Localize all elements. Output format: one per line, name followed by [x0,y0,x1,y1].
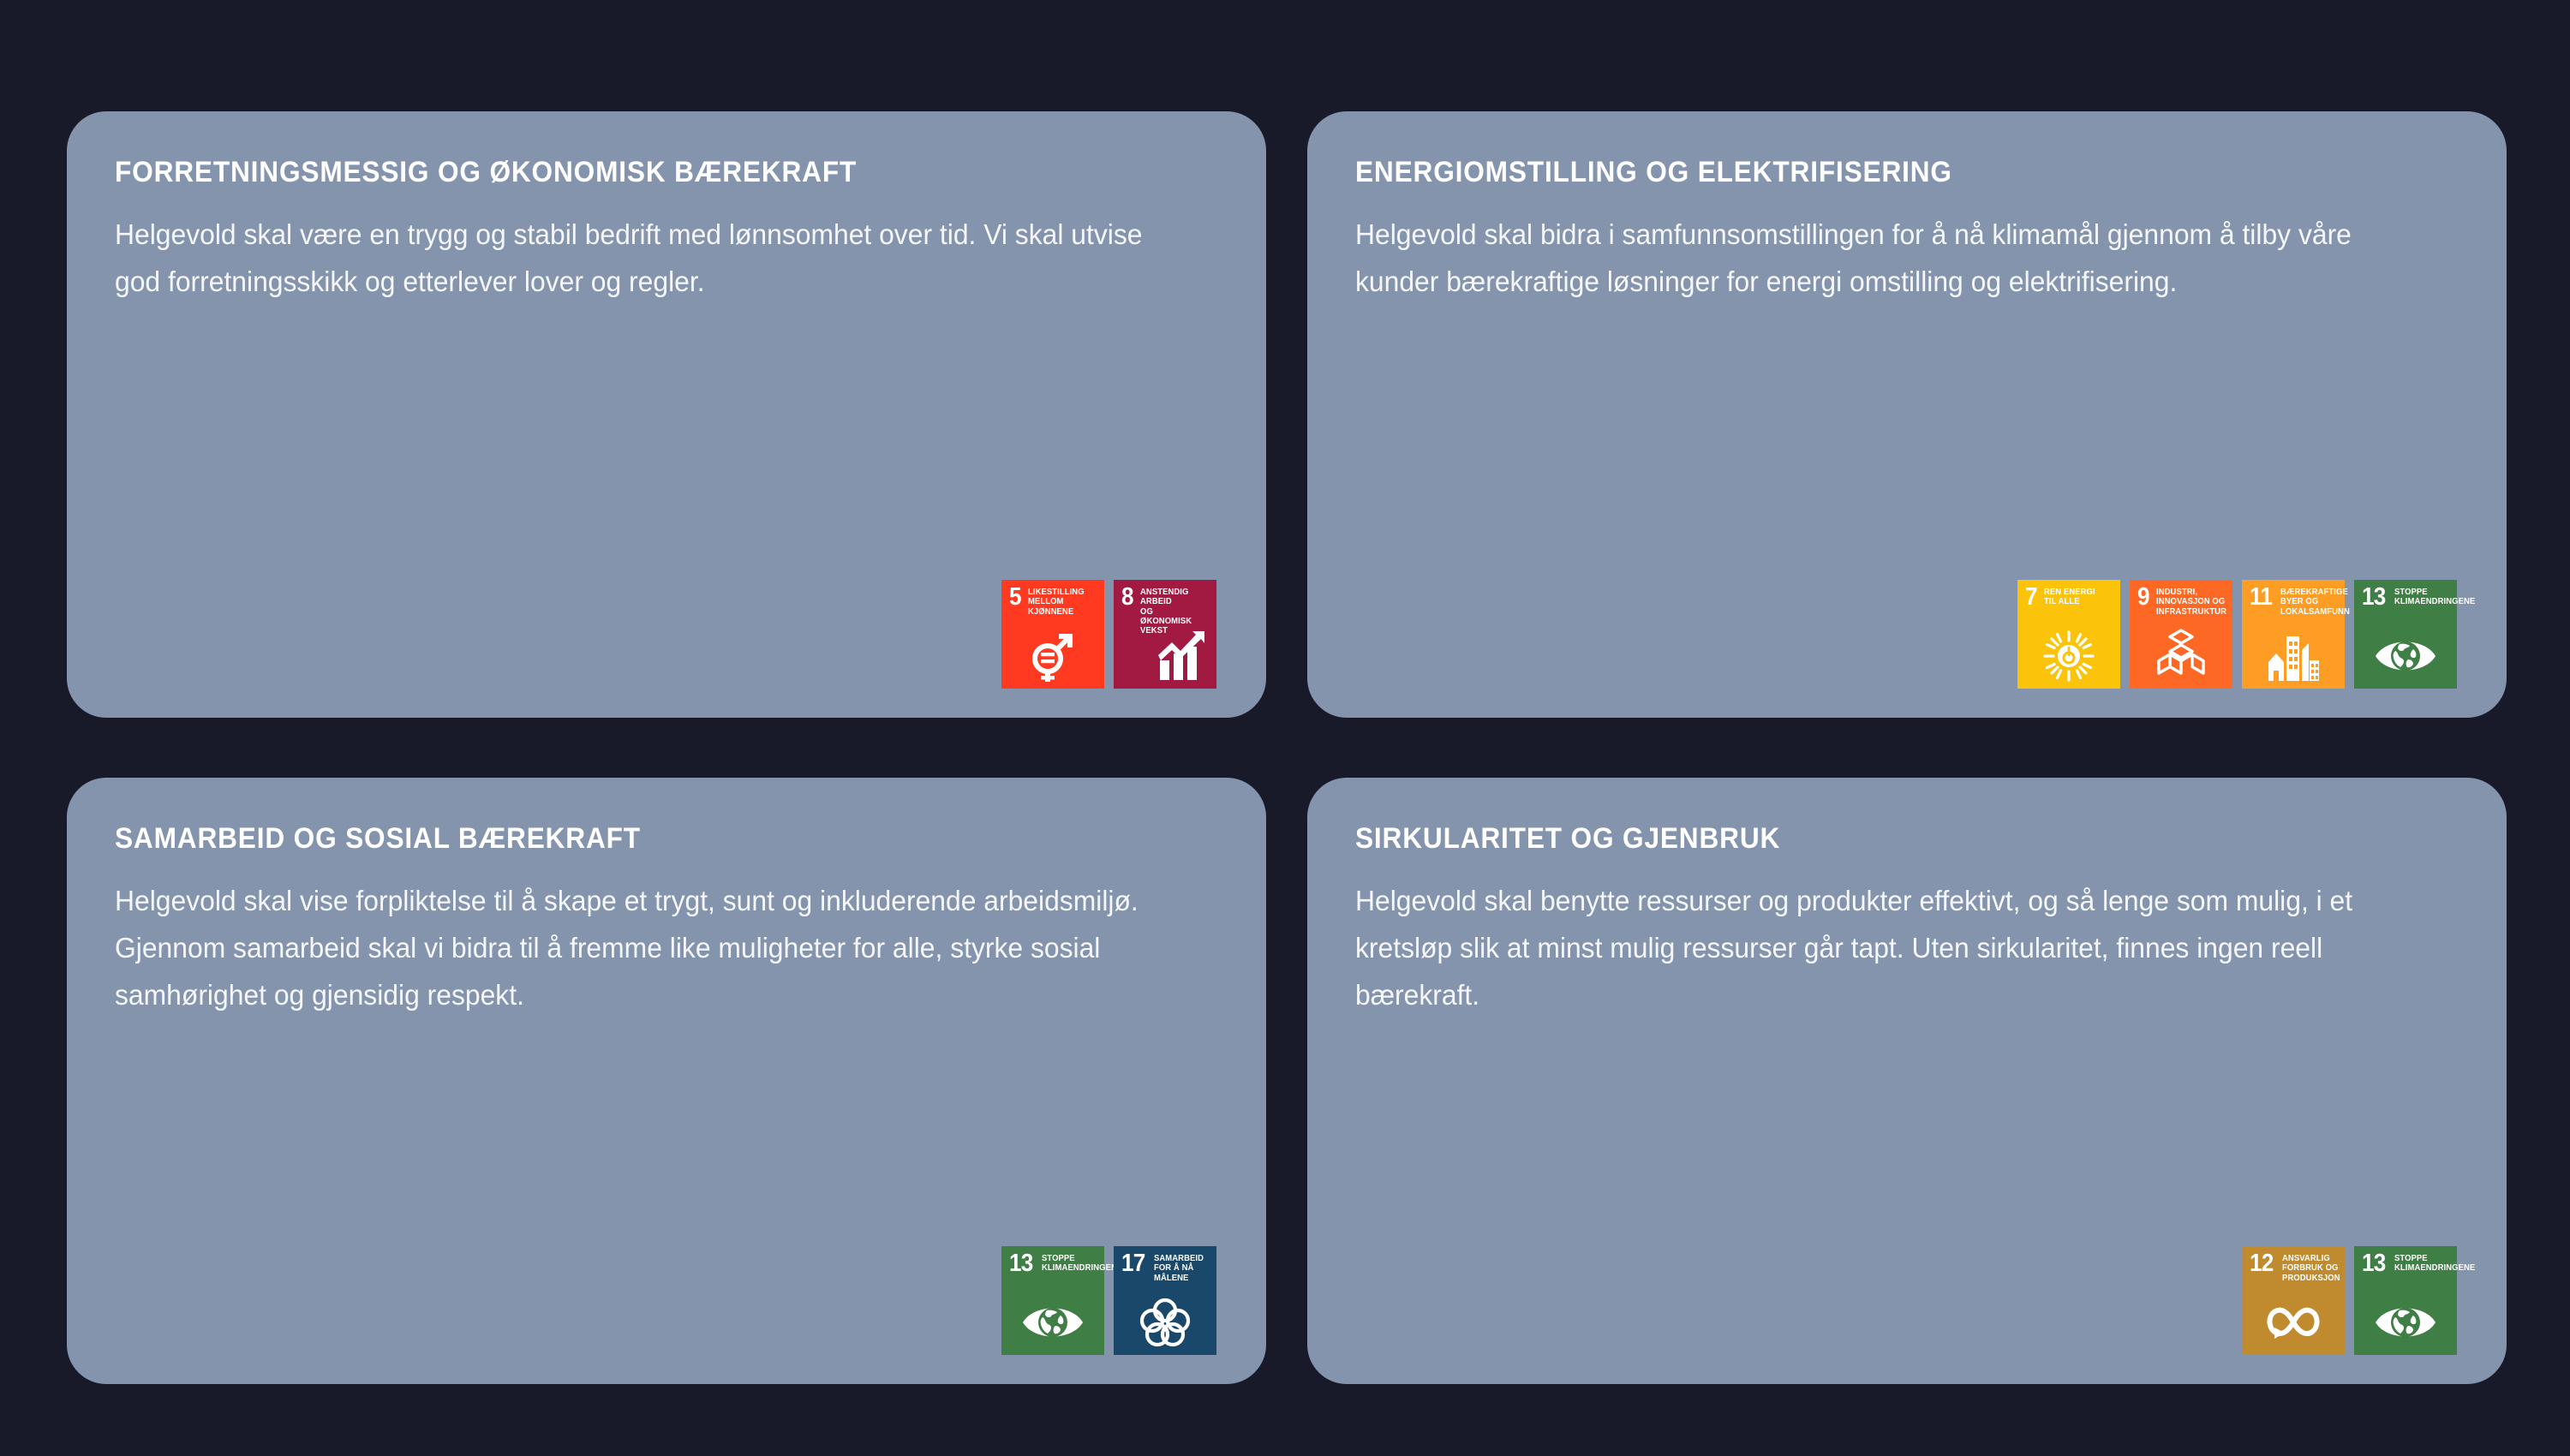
card-body-text: Helgevold skal være en trygg og stabil b… [115,212,1180,306]
sdg-goal-header: 12ANSVARLIG FORBRUK OG PRODUKSJON [2250,1254,2339,1283]
sustainability-card-samarbeid: SAMARBEID OG SOSIAL BÆREKRAFTHelgevold s… [67,778,1266,1384]
infinity-loop-icon [2242,1296,2345,1349]
sdg-goal-label: BÆREKRAFTIGE BYER OG LOKALSAMFUNN [2280,588,2350,617]
sdg-goal-header: 17SAMARBEID FOR Å NÅ MÅLENE [1121,1254,1210,1283]
sun-power-icon [2017,630,2120,683]
sdg-goal-label: SAMARBEID FOR Å NÅ MÅLENE [1154,1254,1205,1283]
city-buildings-icon [2242,630,2345,683]
sdg-goal-13-icon[interactable]: 13STOPPE KLIMAENDRINGENE [2354,1246,2457,1355]
sdg-goal-label: STOPPE KLIMAENDRINGENE [2394,588,2475,607]
card-heading: SAMARBEID OG SOSIAL BÆREKRAFT [115,822,1141,856]
sdg-goal-label: REN ENERGI TIL ALLE [2044,588,2095,607]
card-heading: FORRETNINGSMESSIG OG ØKONOMISK BÆREKRAFT [115,156,1141,189]
sdg-goal-number: 5 [1009,588,1021,608]
climate-eye-icon [2354,1296,2457,1349]
sdg-goal-header: 11BÆREKRAFTIGE BYER OG LOKALSAMFUNN [2250,588,2339,617]
sdg-goal-8-icon[interactable]: 8ANSTENDIG ARBEID OG ØKONOMISK VEKST [1114,580,1216,689]
card-heading: ENERGIOMSTILLING OG ELEKTRIFISERING [1355,156,2382,189]
sdg-goal-number: 12 [2250,1254,2274,1274]
cubes-icon [2130,630,2232,683]
sdg-goal-header: 13STOPPE KLIMAENDRINGENE [1009,1254,1098,1274]
sdg-goal-11-icon[interactable]: 11BÆREKRAFTIGE BYER OG LOKALSAMFUNN [2242,580,2345,689]
sdg-goal-row: 12ANSVARLIG FORBRUK OG PRODUKSJON 13STOP… [1355,1246,2459,1355]
sustainability-card-forretningsmessig: FORRETNINGSMESSIG OG ØKONOMISK BÆREKRAFT… [67,111,1266,718]
sdg-goal-label: INDUSTRI, INNOVASJON OG INFRASTRUKTUR [2156,588,2226,617]
sdg-goal-7-icon[interactable]: 7REN ENERGI TIL ALLE [2017,580,2120,689]
sdg-goal-5-icon[interactable]: 5LIKESTILLING MELLOM KJØNNENE [1001,580,1104,689]
climate-eye-icon [1001,1296,1104,1349]
card-body-text: Helgevold skal benytte ressurser og prod… [1355,878,2420,1018]
partnership-rings-icon [1114,1296,1216,1349]
sdg-goal-number: 13 [1009,1254,1033,1274]
sdg-goal-label: STOPPE KLIMAENDRINGENE [1042,1254,1122,1274]
climate-eye-icon [2354,630,2457,683]
sustainability-card-board: FORRETNINGSMESSIG OG ØKONOMISK BÆREKRAFT… [0,0,2570,1456]
sdg-goal-number: 17 [1121,1254,1145,1274]
sdg-goal-row: 5LIKESTILLING MELLOM KJØNNENE 8ANSTENDIG… [115,580,1218,689]
card-body-text: Helgevold skal bidra i samfunnsomstillin… [1355,212,2420,306]
card-heading: SIRKULARITET OG GJENBRUK [1355,822,2382,856]
sdg-goal-row: 7REN ENERGI TIL ALLE [1355,580,2459,689]
sdg-goal-12-icon[interactable]: 12ANSVARLIG FORBRUK OG PRODUKSJON [2242,1246,2345,1355]
gender-equality-icon [1001,630,1104,683]
sustainability-card-sirkularitet: SIRKULARITET OG GJENBRUKHelgevold skal b… [1307,778,2507,1384]
sdg-goal-number: 13 [2362,1254,2386,1274]
sdg-goal-label: STOPPE KLIMAENDRINGENE [2394,1254,2475,1274]
sdg-goal-number: 9 [2137,588,2149,608]
sdg-goal-9-icon[interactable]: 9INDUSTRI, INNOVASJON OG INFRASTRUKTUR [2130,580,2232,689]
sdg-goal-header: 13STOPPE KLIMAENDRINGENE [2362,1254,2451,1274]
sdg-goal-number: 13 [2362,588,2386,608]
sdg-goal-label: ANSVARLIG FORBRUK OG PRODUKSJON [2282,1254,2340,1283]
sdg-goal-header: 9INDUSTRI, INNOVASJON OG INFRASTRUKTUR [2137,588,2226,617]
sdg-goal-number: 11 [2250,588,2272,608]
sdg-goal-number: 7 [2025,588,2037,608]
growth-chart-icon [1114,630,1216,683]
sdg-goal-header: 5LIKESTILLING MELLOM KJØNNENE [1009,588,1098,617]
card-body-text: Helgevold skal vise forpliktelse til å s… [115,878,1180,1018]
sdg-goal-label: LIKESTILLING MELLOM KJØNNENE [1028,588,1091,617]
sdg-goal-header: 13STOPPE KLIMAENDRINGENE [2362,588,2451,608]
sdg-goal-number: 8 [1121,588,1133,608]
sdg-goal-13-icon[interactable]: 13STOPPE KLIMAENDRINGENE [2354,580,2457,689]
sdg-goal-row: 13STOPPE KLIMAENDRINGENE 17SAMARBEID FOR… [115,1246,1218,1355]
sustainability-card-energiomstilling: ENERGIOMSTILLING OG ELEKTRIFISERINGHelge… [1307,111,2507,718]
sdg-goal-header: 7REN ENERGI TIL ALLE [2025,588,2114,608]
sdg-goal-17-icon[interactable]: 17SAMARBEID FOR Å NÅ MÅLENE [1114,1246,1216,1355]
sdg-goal-13-icon[interactable]: 13STOPPE KLIMAENDRINGENE [1001,1246,1104,1355]
